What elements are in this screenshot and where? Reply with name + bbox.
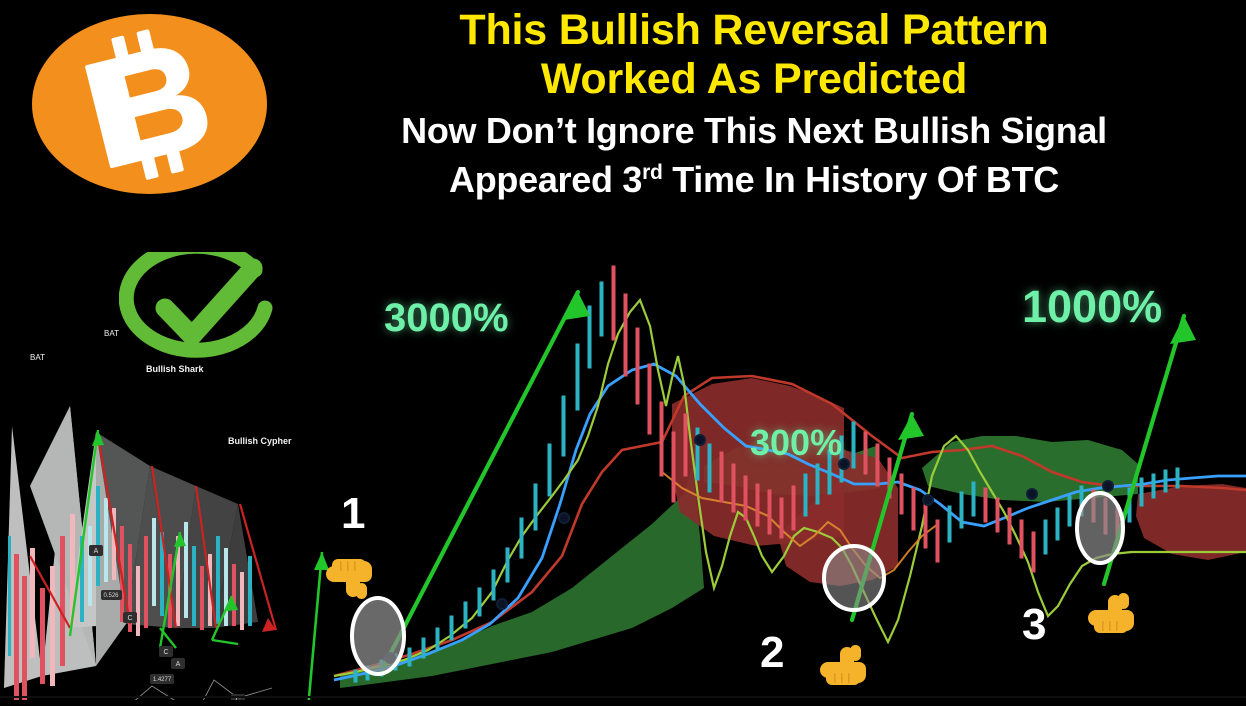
harmonic-pattern-chart[interactable]: X A B C D C B D C B D A 0.526 — [0, 236, 332, 700]
signal-marker-3-number: 3 — [1022, 600, 1046, 650]
headline-block: This Bullish Reversal Pattern Worked As … — [262, 6, 1246, 202]
headline-line-2: Worked As Predicted — [262, 55, 1246, 104]
svg-text:A: A — [94, 548, 99, 555]
signal-marker-1-number: 1 — [341, 489, 365, 539]
subheadline-line-1: Now Don’t Ignore This Next Bullish Signa… — [262, 108, 1246, 153]
headline-line-1: This Bullish Reversal Pattern — [262, 6, 1246, 55]
svg-text:A: A — [176, 661, 181, 668]
svg-text:0.526: 0.526 — [103, 593, 119, 599]
pattern-label-shark: Bullish Shark — [146, 364, 205, 374]
point-down-hand-icon — [326, 541, 388, 603]
subheadline-post: Time In History Of BTC — [663, 159, 1059, 200]
green-check-circle-icon — [119, 252, 277, 364]
point-up-hand-icon-3 — [1088, 587, 1150, 649]
svg-text:1.4277: 1.4277 — [153, 677, 172, 683]
pattern-label-cypher: Bullish Cypher — [228, 436, 292, 446]
poster-root: This Bullish Reversal Pattern Worked As … — [0, 0, 1246, 700]
svg-text:C: C — [163, 649, 168, 656]
gain-label-300: 300% — [750, 422, 842, 464]
point-up-hand-icon-2 — [820, 639, 882, 701]
subheadline-line-2: Appeared 3rd Time In History Of BTC — [262, 157, 1246, 202]
bitcoin-logo-icon — [32, 14, 267, 194]
pattern-label-bat-2: BAT — [104, 329, 119, 338]
highlight-ellipse-2 — [824, 546, 884, 610]
subheadline-pre: Appeared 3 — [449, 159, 642, 200]
highlight-ellipse-1 — [352, 598, 404, 674]
header: This Bullish Reversal Pattern Worked As … — [0, 0, 1246, 236]
signal-marker-2-number: 2 — [760, 628, 784, 678]
chart-baseline — [0, 696, 1246, 698]
highlight-ellipse-3 — [1077, 493, 1123, 563]
gain-label-3000: 3000% — [384, 296, 509, 341]
pattern-label-bat-1: BAT — [30, 353, 45, 362]
subheadline-ordinal: rd — [642, 161, 662, 184]
svg-text:C: C — [127, 615, 132, 622]
chart-area: X A B C D C B D C B D A 0.526 — [0, 236, 1246, 700]
gain-label-1000: 1000% — [1022, 281, 1162, 333]
